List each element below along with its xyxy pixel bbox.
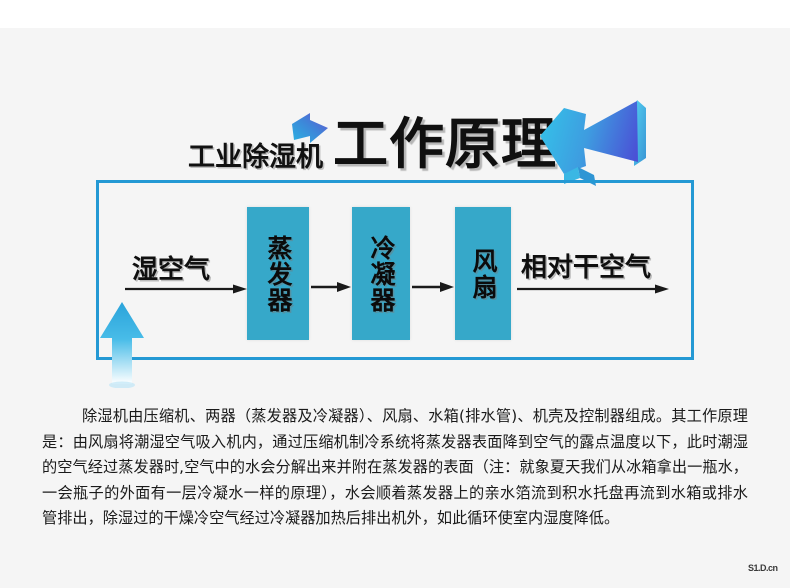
page-title-prefix: 工业除湿机 bbox=[188, 144, 323, 171]
body-paragraph: 除湿机由压缩机、两器（蒸发器及冷凝器）、风扇、水箱(排水管)、机壳及控制器组成。… bbox=[42, 404, 748, 532]
page-root: 工业除湿机 工作原理 蒸发器 冷凝器 bbox=[0, 0, 790, 588]
flow-arrow-outlet-icon bbox=[517, 283, 669, 295]
page-header: 工业除湿机 工作原理 bbox=[0, 48, 790, 148]
flow-arrow-condenser-fan-icon bbox=[412, 281, 454, 293]
page-title: 工作原理 bbox=[333, 117, 557, 172]
diagram-box-fan-label: 风扇 bbox=[470, 248, 496, 300]
diagram-outlet-label: 相对干空气 bbox=[521, 254, 651, 280]
flow-arrow-evaporator-condenser-icon bbox=[311, 281, 351, 293]
watermark: S1.D.cn bbox=[748, 563, 778, 573]
diagram-box-condenser-label: 冷凝器 bbox=[368, 235, 394, 313]
airflow-up-arrow-icon bbox=[98, 300, 146, 388]
diagram-box-evaporator-label: 蒸发器 bbox=[265, 235, 291, 313]
diagram-box-evaporator: 蒸发器 bbox=[247, 207, 309, 340]
large-left-arrow-icon bbox=[534, 96, 654, 188]
flow-arrow-inlet-icon bbox=[125, 283, 247, 295]
diagram-box-condenser: 冷凝器 bbox=[352, 207, 410, 340]
diagram-box-fan: 风扇 bbox=[455, 207, 511, 340]
diagram-inlet-label: 湿空气 bbox=[132, 256, 210, 282]
